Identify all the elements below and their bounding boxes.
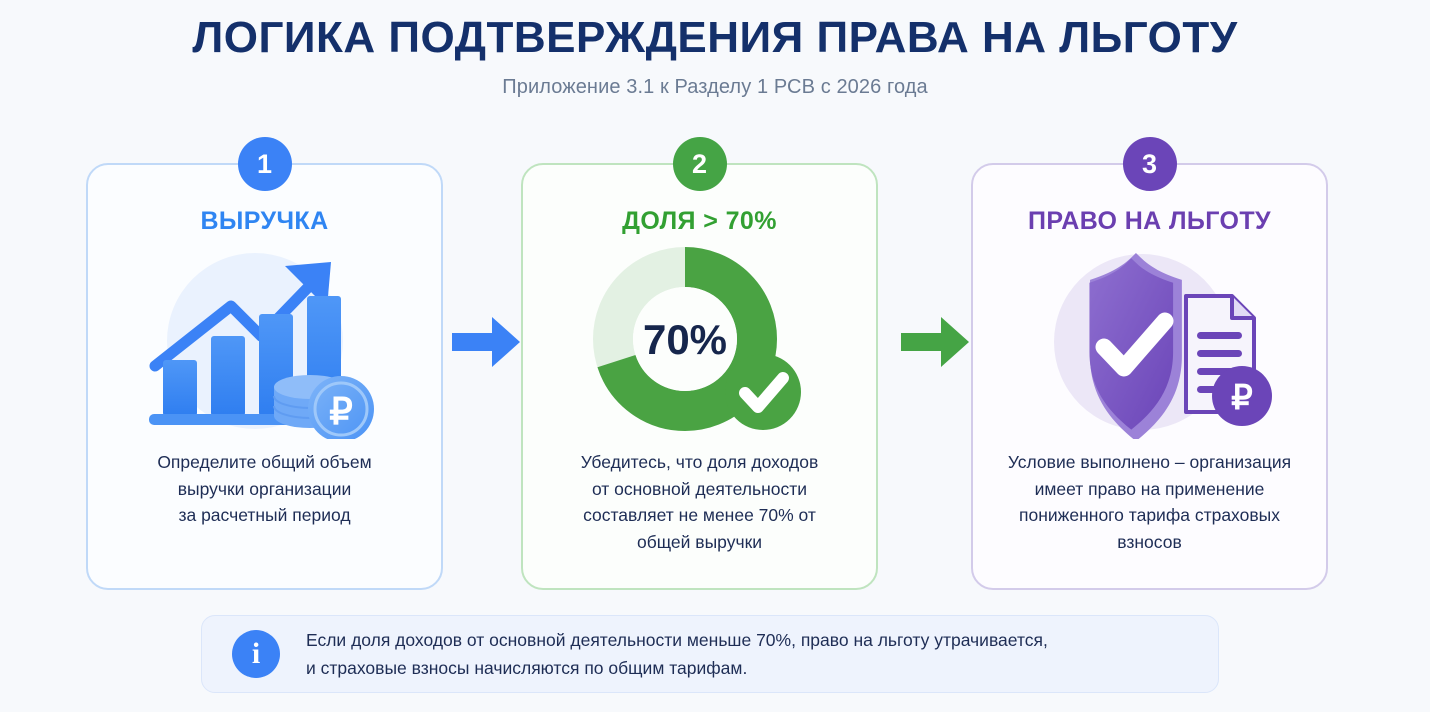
- step-number-badge-2: 2: [673, 137, 727, 191]
- info-icon: i: [232, 630, 280, 678]
- step-card-benefit-right[interactable]: 3 ПРАВО НА ЛЬГОТУ: [971, 163, 1328, 590]
- step-card-text-1: Определите общий объем выручки организац…: [135, 449, 393, 529]
- bar-chart-growth-ruble-icon: ₽: [88, 244, 441, 439]
- step-card-share[interactable]: 2 ДОЛЯ > 70% 70% Убедитесь, что доля дох…: [521, 163, 878, 590]
- shield-check-document-ruble-icon: ₽: [973, 244, 1326, 439]
- step-card-text-2: Убедитесь, что доля доходов от основной …: [559, 449, 841, 555]
- arrow-step2-to-step3: [901, 313, 971, 371]
- page-title: ЛОГИКА ПОДТВЕРЖДЕНИЯ ПРАВА НА ЛЬГОТУ: [0, 14, 1430, 62]
- step-card-title-2: ДОЛЯ > 70%: [622, 207, 777, 236]
- step-card-text-3: Условие выполнено – организация имеет пр…: [986, 449, 1313, 555]
- arrow-step1-to-step2: [452, 313, 522, 371]
- steps-container: 1 ВЫРУЧКА: [0, 163, 1430, 593]
- step-card-revenue[interactable]: 1 ВЫРУЧКА: [86, 163, 443, 590]
- info-note-text: Если доля доходов от основной деятельнос…: [306, 626, 1048, 682]
- svg-text:₽: ₽: [1231, 379, 1253, 417]
- step-number-badge-3: 3: [1123, 137, 1177, 191]
- step-number-badge-1: 1: [238, 137, 292, 191]
- step-card-title-1: ВЫРУЧКА: [200, 207, 328, 236]
- page-subtitle: Приложение 3.1 к Разделу 1 РСВ с 2026 го…: [0, 76, 1430, 99]
- donut-center-value: 70%: [642, 316, 726, 363]
- info-note-bar: i Если доля доходов от основной деятельн…: [201, 615, 1219, 693]
- svg-text:₽: ₽: [329, 391, 353, 432]
- donut-chart-check-icon: 70%: [523, 244, 876, 439]
- header: ЛОГИКА ПОДТВЕРЖДЕНИЯ ПРАВА НА ЛЬГОТУ При…: [0, 0, 1430, 99]
- step-card-title-3: ПРАВО НА ЛЬГОТУ: [1028, 207, 1271, 236]
